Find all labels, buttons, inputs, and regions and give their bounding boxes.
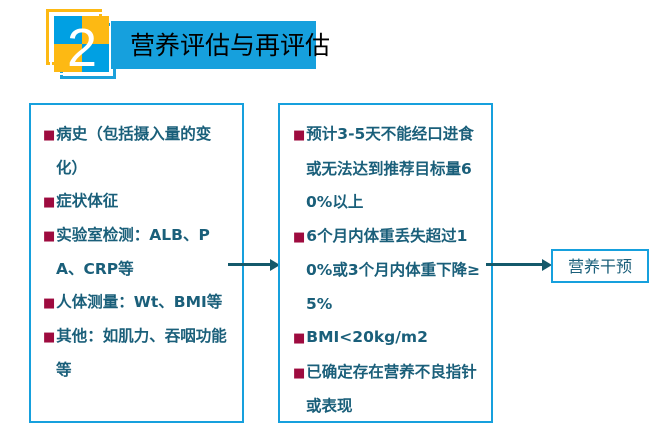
list-item: 预计3-5天不能经口进食或无法达到推荐目标量60%以上: [293, 118, 483, 220]
list-item: 6个月内体重丢失超过10%或3个月内体重下降≥5%: [293, 220, 483, 322]
criteria-item-list: 预计3-5天不能经口进食或无法达到推荐目标量60%以上 6个月内体重丢失超过10…: [280, 105, 491, 424]
assessment-box: 病史（包括摄入量的变化） 症状体征 实验室检测：ALB、PA、CRP等 人体测量…: [29, 103, 244, 423]
intervention-label: 营养干预: [553, 251, 647, 281]
list-item: 病史（包括摄入量的变化）: [43, 118, 234, 185]
criteria-box: 预计3-5天不能经口进食或无法达到推荐目标量60%以上 6个月内体重丢失超过10…: [278, 103, 493, 423]
list-item: 其他：如肌力、吞咽功能等: [43, 320, 234, 387]
step-number-badge: 2: [46, 9, 118, 81]
assessment-item-list: 病史（包括摄入量的变化） 症状体征 实验室检测：ALB、PA、CRP等 人体测量…: [31, 105, 242, 387]
arrow-assessment-to-criteria: [228, 258, 280, 272]
list-item: 已确定存在营养不良指针或表现: [293, 356, 483, 424]
list-item: 症状体征: [43, 185, 234, 219]
page-title: 营养评估与再评估: [130, 21, 330, 69]
list-item: BMI<20kg/m2: [293, 321, 483, 356]
badge-number-label: 2: [46, 9, 118, 81]
header: 2 营养评估与再评估: [0, 0, 655, 92]
arrow-criteria-to-intervention: [486, 258, 552, 272]
arrow-shaft: [228, 263, 271, 266]
arrow-shaft: [486, 263, 543, 266]
section-title-bar: 营养评估与再评估: [111, 21, 316, 69]
list-item: 人体测量：Wt、BMI等: [43, 286, 234, 320]
list-item: 实验室检测：ALB、PA、CRP等: [43, 219, 234, 286]
intervention-box: 营养干预: [551, 249, 649, 283]
